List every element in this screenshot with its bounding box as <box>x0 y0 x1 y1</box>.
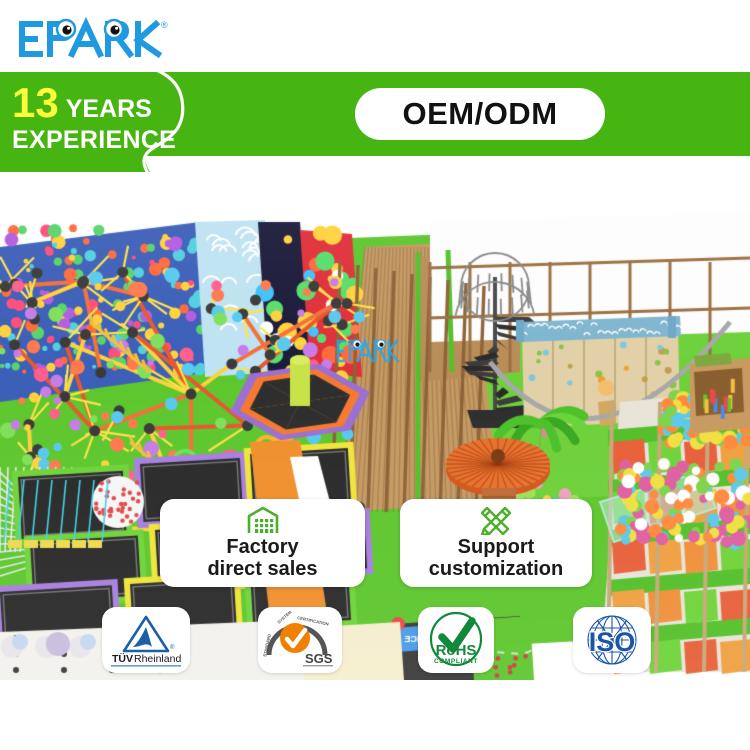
factory-icon <box>246 505 280 535</box>
cert-badge-rohs: RoHS COMPLIANT <box>418 607 494 673</box>
years-experience-badge: 13 YEARS EXPERIENCE <box>0 72 196 172</box>
sgs-icon: SYSTEM CERTIFICATION STANDARD SGS <box>261 611 339 669</box>
trademark-symbol: ® <box>161 20 168 30</box>
feature-badge-customization: Support customization <box>400 499 592 587</box>
oem-odm-pill: OEM/ODM <box>355 88 605 140</box>
cert-badge-sgs: SYSTEM CERTIFICATION STANDARD SGS <box>258 607 342 673</box>
sgs-arc-top: SYSTEM <box>276 611 293 625</box>
tuv-rheinland-icon: ® TÜV Rheinland <box>106 611 186 669</box>
feature-factory-line2: direct sales <box>207 559 317 581</box>
years-badge-text: 13 YEARS EXPERIENCE <box>12 82 188 153</box>
experience-label: EXPERIENCE <box>12 127 188 153</box>
oem-odm-label: OEM/ODM <box>402 96 557 132</box>
epark-watermark <box>334 330 400 372</box>
cert-badge-tuv: ® TÜV Rheinland <box>102 607 190 673</box>
product-marketing-image: ® OEM/ODM 13 YEARS EXPERIENCE <box>0 0 750 750</box>
tuv-rest-text: Rheinland <box>134 653 181 665</box>
rohs-label: RoHS <box>436 642 477 659</box>
feature-custom-line2: customization <box>429 559 563 581</box>
sgs-label: SGS <box>305 651 333 666</box>
rohs-icon: RoHS COMPLIANT <box>422 611 490 669</box>
years-number: 13 <box>12 82 59 124</box>
epark-logo: ® <box>14 12 174 64</box>
tuv-bold-text: TÜV <box>112 652 133 665</box>
rohs-sub: COMPLIANT <box>434 658 478 665</box>
iso-icon: ISO <box>577 611 647 669</box>
feature-custom-line1: Support <box>429 537 563 559</box>
years-label: YEARS <box>66 97 152 122</box>
pencil-ruler-icon <box>480 505 512 535</box>
feature-factory-line1: Factory <box>207 537 317 559</box>
logo-header: ® <box>0 0 750 72</box>
cert-badge-iso: ISO <box>573 607 651 673</box>
bottom-whitespace <box>0 680 750 750</box>
feature-badge-factory: Factory direct sales <box>160 499 365 587</box>
svg-text:®: ® <box>170 644 175 651</box>
iso-label: ISO <box>589 627 636 657</box>
